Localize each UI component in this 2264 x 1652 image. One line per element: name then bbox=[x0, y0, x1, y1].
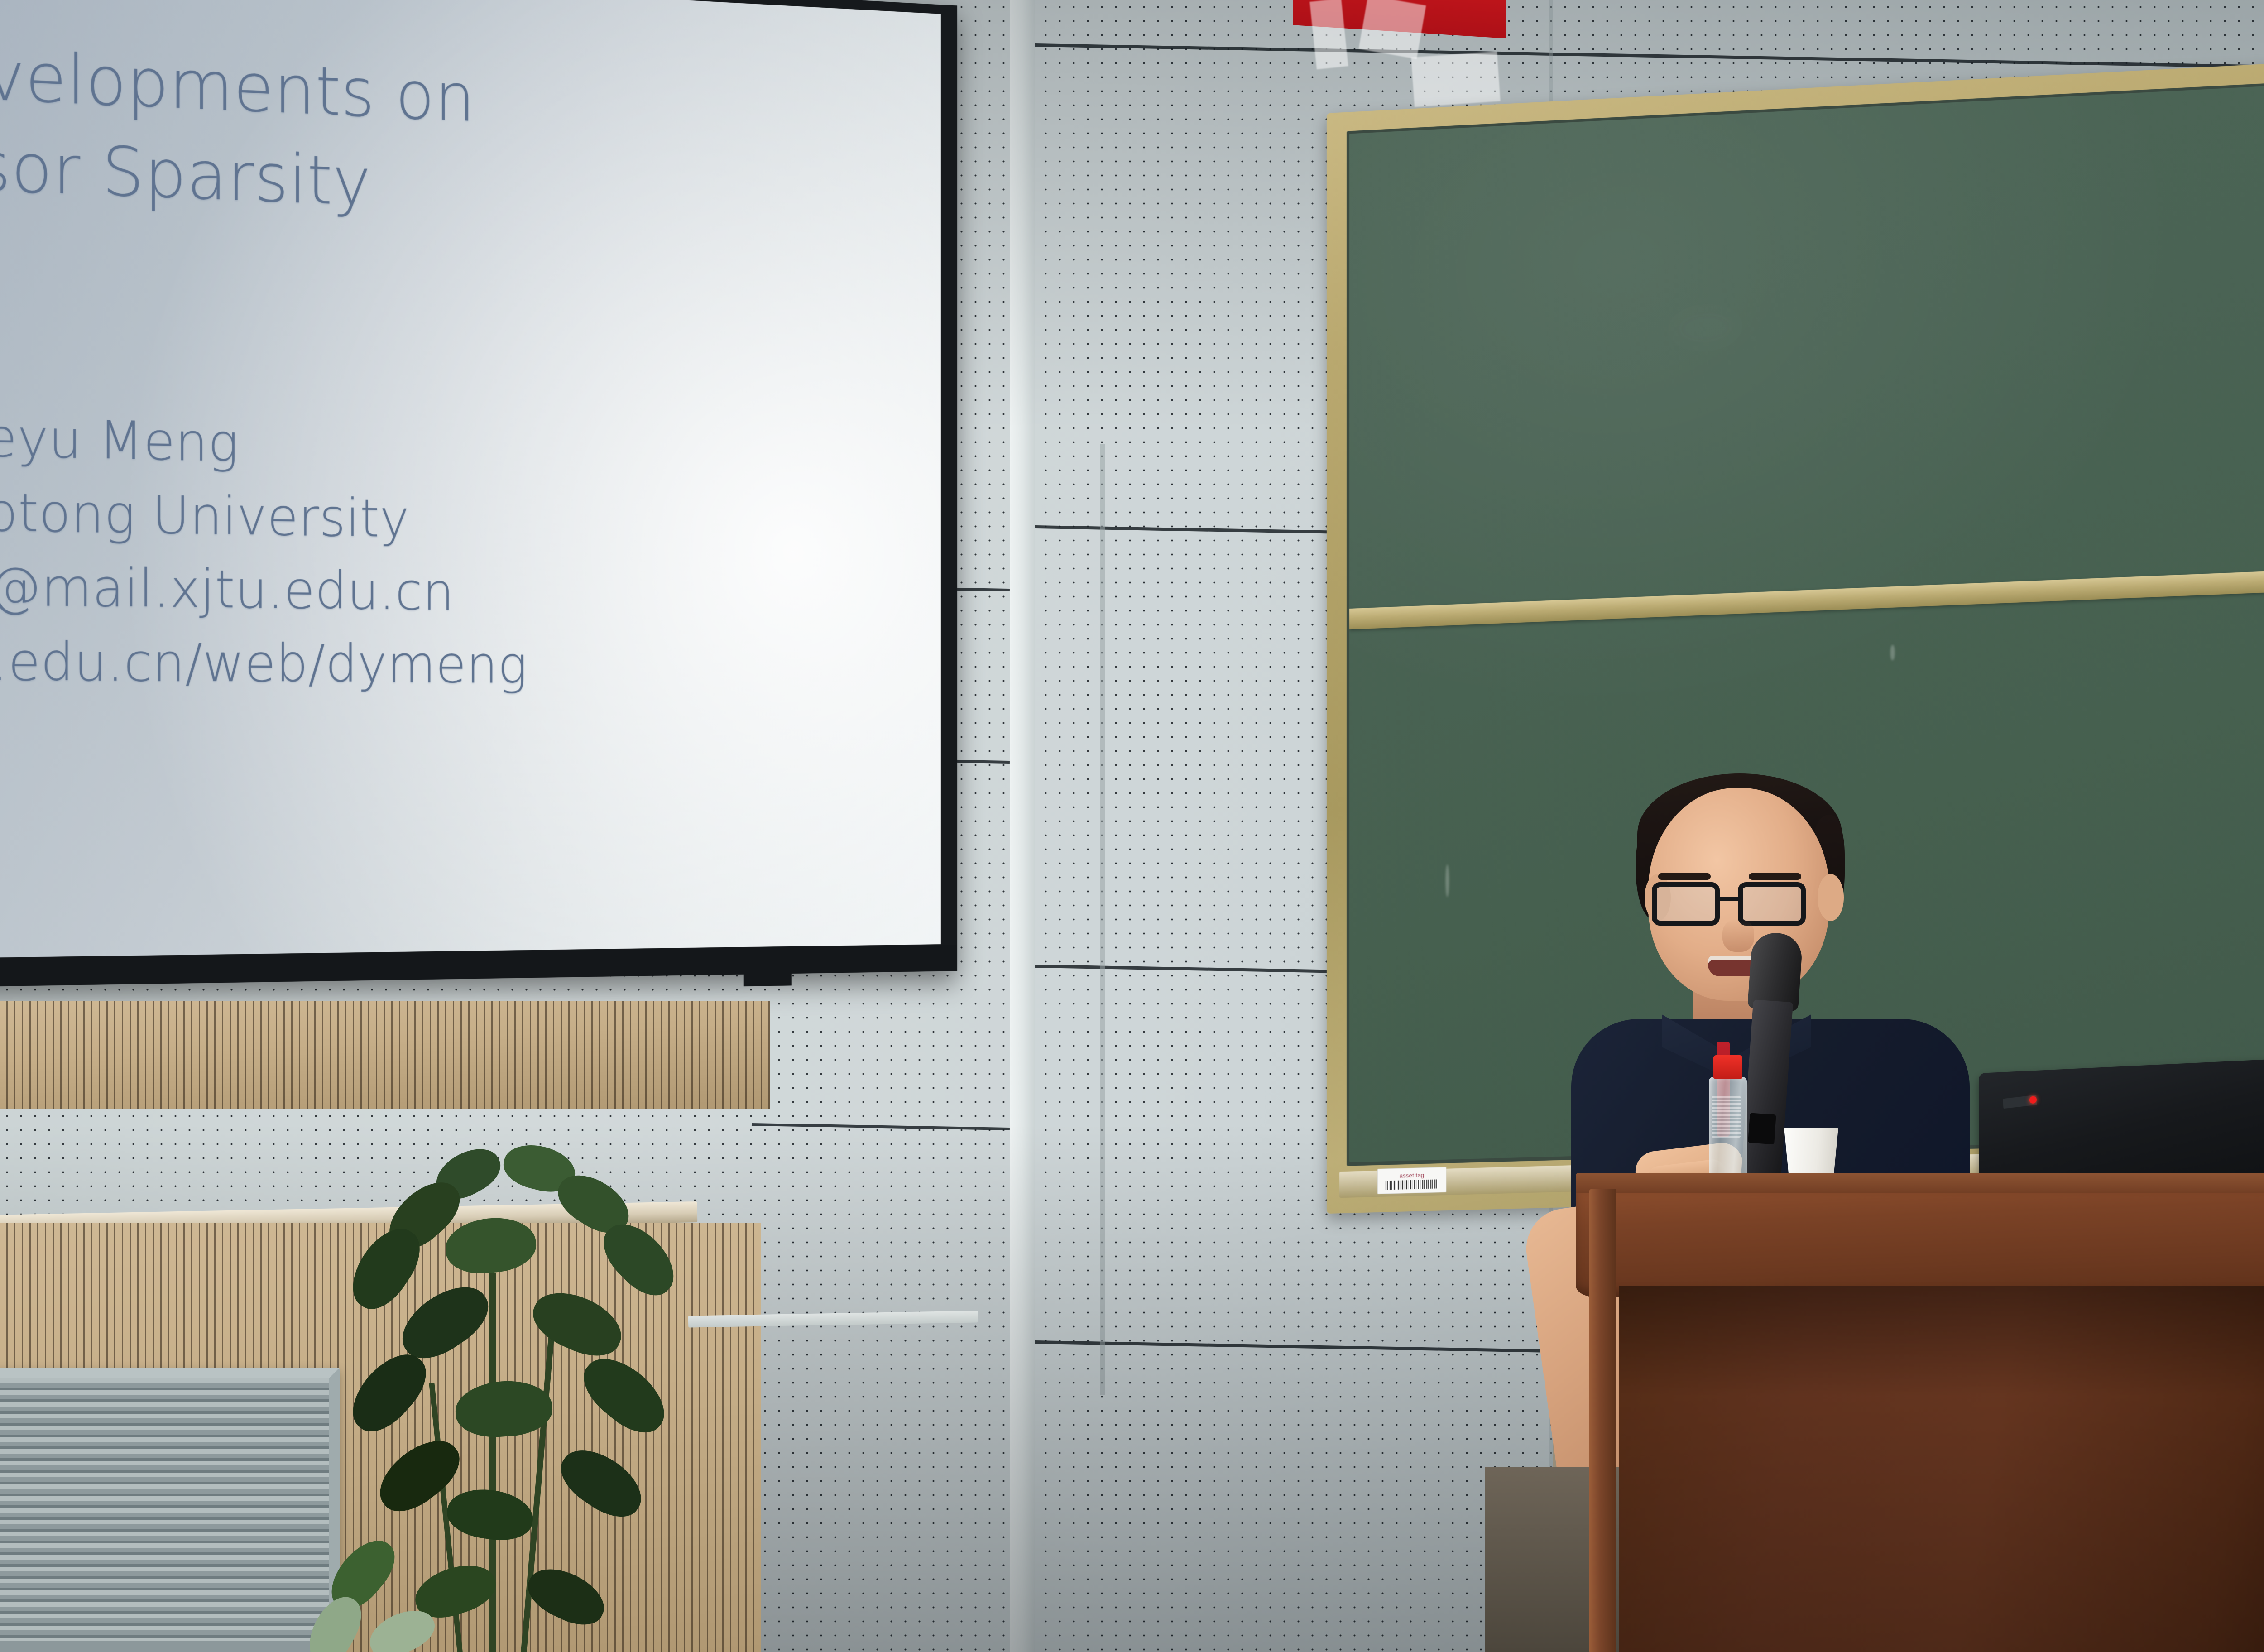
podium-front-band bbox=[1576, 1193, 2264, 1297]
chalkboard-asset-label: asset tag bbox=[1377, 1167, 1446, 1194]
chalkboard-divider-rail bbox=[1349, 562, 2264, 629]
tape-strip bbox=[1411, 52, 1500, 107]
eyebrow-left bbox=[1658, 873, 1711, 880]
glasses-lens-left bbox=[1652, 882, 1720, 926]
plant-leaf bbox=[520, 1558, 613, 1634]
air-vent-grille bbox=[0, 1368, 340, 1652]
lecture-hall-photo: Developments on ensor Sparsity Deyu Meng… bbox=[0, 0, 2264, 1652]
chalk-smudge bbox=[1669, 305, 1742, 350]
chalk-mark bbox=[1445, 864, 1449, 897]
plant-leaf bbox=[551, 1437, 652, 1528]
plant-leaf bbox=[572, 1345, 677, 1445]
bottle-cap bbox=[1713, 1055, 1742, 1079]
screen-surface: Developments on ensor Sparsity Deyu Meng… bbox=[0, 0, 941, 958]
plant-leaf bbox=[454, 1378, 554, 1440]
glasses-bridge bbox=[1719, 897, 1740, 901]
slide-email: eng@mail.xjtu.edu.cn bbox=[0, 548, 925, 633]
wood-slat-panel-upper bbox=[0, 1001, 770, 1109]
eyebrow-right bbox=[1749, 873, 1801, 880]
potted-plant bbox=[308, 1146, 715, 1652]
glasses-lens-right bbox=[1738, 882, 1806, 926]
slide-presenter-block: Deyu Meng Jiaotong University eng@mail.x… bbox=[0, 366, 925, 702]
barcode-icon bbox=[1386, 1179, 1438, 1190]
asset-label-text: asset tag bbox=[1400, 1172, 1425, 1179]
vent-louvers bbox=[0, 1378, 329, 1641]
tape-strip bbox=[1359, 0, 1426, 59]
water-bottle[interactable] bbox=[1707, 1055, 1749, 1191]
screen-bracket bbox=[744, 971, 792, 986]
podium-left-edge bbox=[1589, 1189, 1616, 1652]
plant-leaf bbox=[444, 1484, 536, 1545]
microphone-vent bbox=[1748, 1113, 1776, 1144]
projection-screen: Developments on ensor Sparsity Deyu Meng… bbox=[0, 0, 957, 987]
ear-right bbox=[1818, 874, 1844, 921]
podium-shading bbox=[1619, 1286, 2264, 1652]
plant-leaf bbox=[525, 1281, 631, 1367]
slide-homepage: xjtu.edu.cn/web/dymeng bbox=[0, 623, 925, 702]
slide-title-block: Developments on ensor Sparsity bbox=[0, 25, 925, 247]
bottle-label bbox=[1712, 1096, 1741, 1138]
chalk-mark bbox=[1890, 645, 1895, 661]
podium bbox=[1576, 1173, 2264, 1652]
plant-leaf bbox=[443, 1214, 538, 1277]
